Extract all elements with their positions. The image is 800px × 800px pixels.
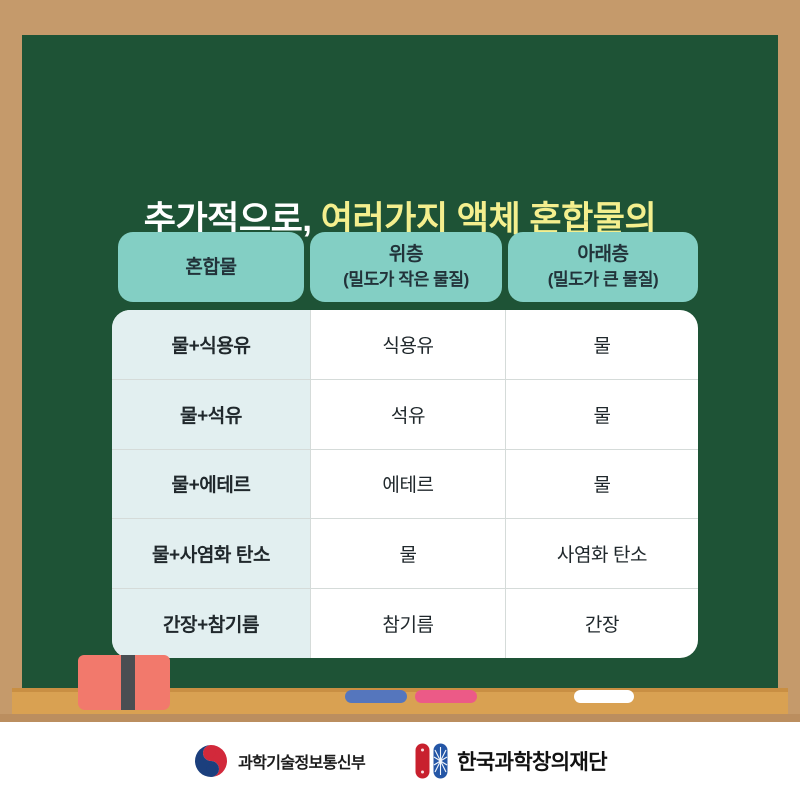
column-header-upper-sublabel: (밀도가 작은 물질) [343, 267, 469, 292]
footer-logos: 과학기술정보통신부 [0, 722, 800, 800]
column-header-mixture-label: 혼합물 [185, 255, 236, 280]
table-row: 물+에테르 에테르 물 [112, 450, 698, 520]
msit-logo: 과학기술정보통신부 [193, 743, 365, 779]
cell-upper: 식용유 [311, 310, 506, 379]
cell-upper: 석유 [311, 380, 506, 449]
cell-upper: 물 [311, 519, 506, 588]
cell-lower: 사염화 탄소 [506, 519, 698, 588]
kofac-red-pill-icon [415, 743, 430, 779]
table-row: 물+사염화 탄소 물 사염화 탄소 [112, 519, 698, 589]
column-header-upper-label: 위층 [389, 244, 423, 265]
column-header-lower-sublabel: (밀도가 큰 물질) [548, 267, 659, 292]
taegeuk-icon [193, 743, 229, 779]
cell-mixture: 간장+참기름 [112, 589, 311, 658]
cell-lower: 물 [506, 450, 698, 519]
cell-lower: 간장 [506, 589, 698, 658]
blue-chalk-icon [345, 690, 407, 703]
cell-mixture: 물+식용유 [112, 310, 311, 379]
eraser-icon [78, 655, 170, 710]
cell-upper: 참기름 [311, 589, 506, 658]
cell-mixture: 물+석유 [112, 380, 311, 449]
cell-lower: 물 [506, 310, 698, 379]
msit-logo-text: 과학기술정보통신부 [238, 749, 365, 773]
white-chalk-icon [574, 690, 634, 703]
column-header-mixture: 혼합물 [118, 232, 304, 302]
column-header-lower-layer: 아래층 (밀도가 큰 물질) [508, 232, 698, 302]
table-row: 간장+참기름 참기름 간장 [112, 589, 698, 658]
cell-upper: 에테르 [311, 450, 506, 519]
column-header-lower-label: 아래층 [577, 244, 628, 265]
cell-mixture: 물+에테르 [112, 450, 311, 519]
kofac-logo: 한국과학창의재단 [415, 743, 607, 779]
table-header-row: 혼합물 위층 (밀도가 작은 물질) 아래층 (밀도가 큰 물질) [118, 232, 698, 302]
cell-lower: 물 [506, 380, 698, 449]
kofac-logo-text: 한국과학창의재단 [457, 746, 607, 776]
kofac-mark-icon [415, 743, 448, 779]
table-row: 물+식용유 식용유 물 [112, 310, 698, 380]
eraser-band [121, 655, 135, 710]
pink-chalk-icon [415, 690, 477, 703]
cell-mixture: 물+사염화 탄소 [112, 519, 311, 588]
table-body: 물+식용유 식용유 물 물+석유 석유 물 물+에테르 에테르 물 물+사염화 … [112, 310, 698, 658]
table-row: 물+석유 석유 물 [112, 380, 698, 450]
kofac-blue-pill-icon [433, 743, 448, 779]
infographic-slide: 추가적으로, 여러가지 액체 혼합물의 분리 예시를 알아볼까요? 혼합물 위층… [0, 0, 800, 800]
frame-shadow [0, 714, 800, 722]
column-header-upper-layer: 위층 (밀도가 작은 물질) [310, 232, 502, 302]
